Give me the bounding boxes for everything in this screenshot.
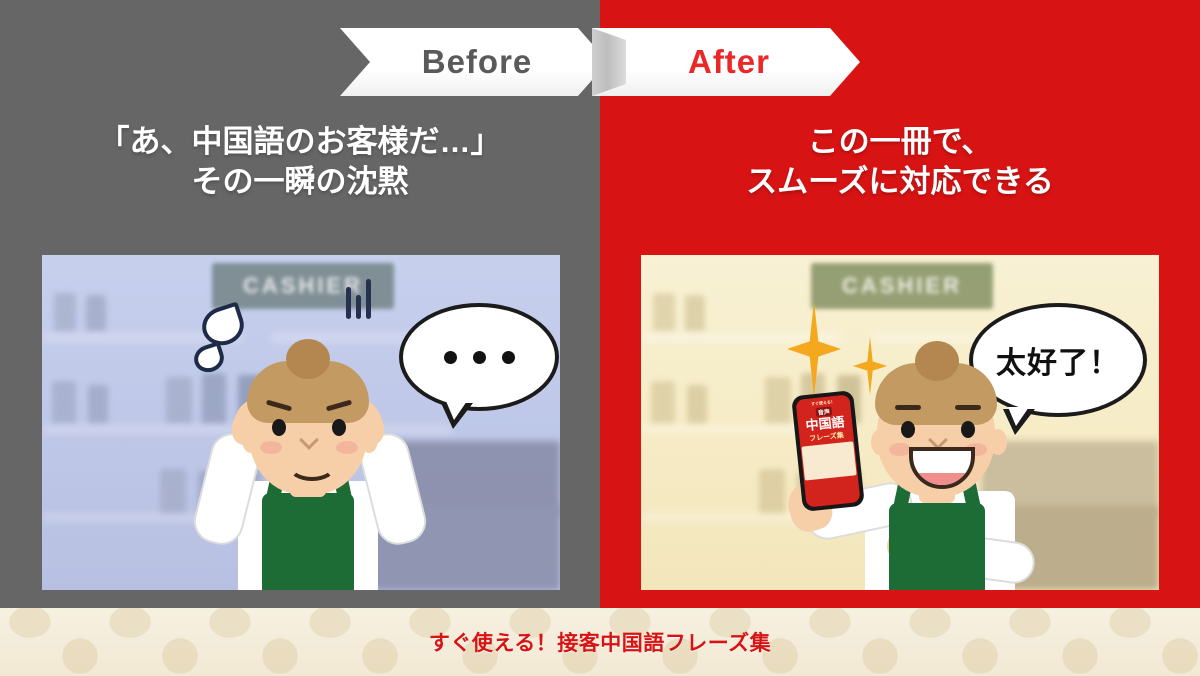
character-cheek	[260, 441, 282, 454]
footer-caption: すぐ使える！接客中国語フレーズ集	[429, 627, 771, 657]
character-eye	[901, 421, 915, 438]
ribbon-after-label: After	[688, 43, 770, 81]
character-ear	[360, 427, 378, 453]
character-eyebrow	[955, 405, 981, 410]
character-ear	[242, 427, 260, 453]
character-eye	[332, 419, 346, 436]
book-cover-artwork	[801, 441, 856, 480]
character-ear	[989, 429, 1007, 455]
smartphone[interactable]: すぐ使える！ 音声 中国語 フレーズ集	[791, 390, 865, 512]
character-cheek	[336, 441, 358, 454]
character-apron	[889, 503, 985, 590]
before-character	[190, 341, 430, 590]
character-hair-bun	[915, 341, 959, 381]
ribbon-before: Before	[340, 28, 608, 96]
footer-bar: すぐ使える！接客中国語フレーズ集	[0, 608, 1200, 676]
after-headline-line2: スムーズに対応できる	[600, 162, 1200, 202]
character-cheek	[889, 443, 911, 456]
before-illustration: CASHIER	[42, 255, 560, 590]
sweat-drop-icon	[202, 307, 244, 345]
stress-lines-icon	[346, 275, 371, 319]
after-headline: この一冊で、 スムーズに対応できる	[600, 122, 1200, 202]
phone-screen: すぐ使える！ 音声 中国語 フレーズ集	[796, 394, 861, 507]
character-eyebrow	[895, 405, 921, 410]
banner-stage: 「あ、中国語のお客様だ…」 その一瞬の沈黙 この一冊で、 スムーズに対応できる …	[0, 0, 1200, 676]
after-illustration: CASHIER 太好了！	[641, 255, 1159, 590]
before-headline-line2: その一瞬の沈黙	[0, 162, 600, 202]
ribbon-before-label: Before	[422, 43, 533, 81]
after-character: すぐ使える！ 音声 中国語 フレーズ集	[831, 341, 1071, 590]
before-headline: 「あ、中国語のお客様だ…」 その一瞬の沈黙	[0, 122, 600, 202]
character-apron	[262, 493, 354, 590]
character-eye	[961, 421, 975, 438]
bubble-tail	[441, 403, 473, 429]
before-headline-line1: 「あ、中国語のお客様だ…」	[0, 122, 600, 162]
character-eye	[272, 419, 286, 436]
character-mouth-smile	[909, 447, 975, 489]
before-after-ribbon: Before After	[340, 28, 860, 96]
character-ear	[871, 429, 889, 455]
character-hair-bun	[286, 339, 330, 379]
ribbon-after: After	[592, 28, 860, 96]
after-headline-line1: この一冊で、	[600, 122, 1200, 162]
character-mouth-frown	[288, 451, 336, 481]
